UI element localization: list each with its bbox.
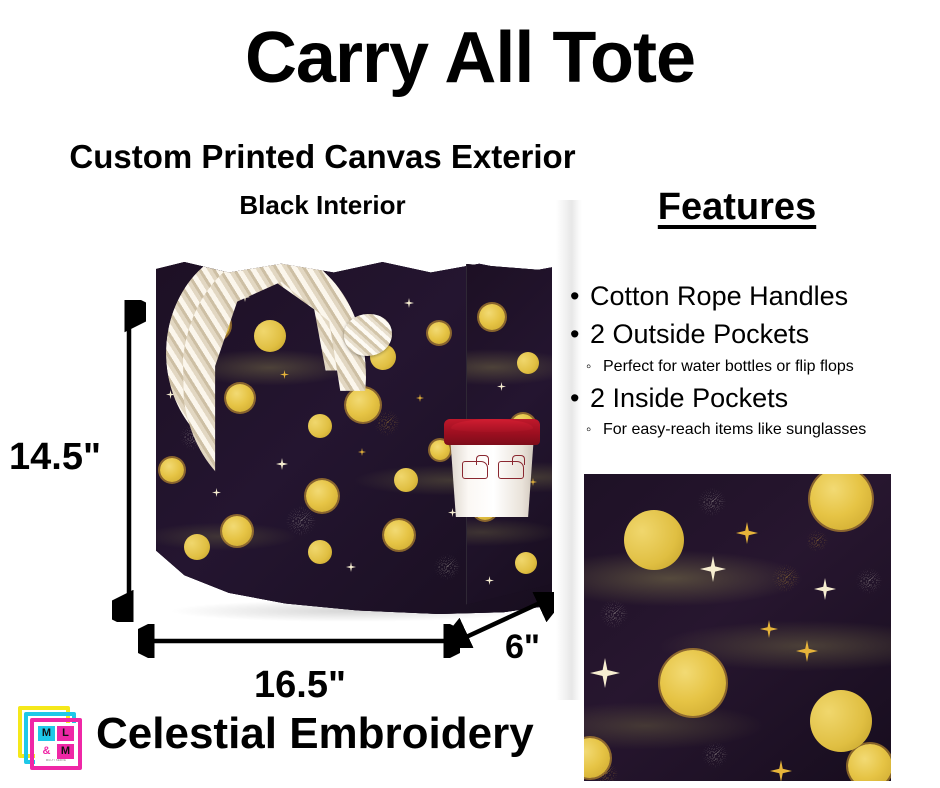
width-dimension-arrow <box>138 624 460 658</box>
features-list: • Cotton Rope Handles • 2 Outside Pocket… <box>570 278 940 443</box>
brand-logo: M L & M MULTI SERVE <box>16 704 90 776</box>
brand-name: Celestial Embroidery <box>96 712 534 756</box>
cup-body <box>450 435 534 517</box>
logo-tagline: MULTI SERVE <box>38 759 74 762</box>
cup-lid <box>444 419 540 445</box>
panel-divider-shadow <box>556 200 582 700</box>
feature-subitem: ◦ For easy-reach items like sunglasses <box>586 418 940 441</box>
travel-cup-icon <box>444 413 540 517</box>
page-title: Carry All Tote <box>0 22 940 94</box>
dog-outline-icon <box>462 461 488 479</box>
feature-label: Cotton Rope Handles <box>590 278 848 315</box>
width-label: 16.5" <box>150 664 450 707</box>
logo-tile-amp: & <box>38 744 55 759</box>
subtitle-exterior: Custom Printed Canvas Exterior <box>0 138 645 176</box>
tote-bag-image <box>148 246 552 618</box>
feature-label: 2 Inside Pockets <box>590 380 788 417</box>
feature-item: • Cotton Rope Handles <box>570 278 940 315</box>
depth-label: 6" <box>505 628 569 667</box>
hollow-bullet-icon: ◦ <box>586 422 603 437</box>
feature-item: • 2 Outside Pockets <box>570 316 940 353</box>
logo-tile-m2: M <box>57 744 74 759</box>
feature-item: • 2 Inside Pockets <box>570 380 940 417</box>
feature-sublabel: Perfect for water bottles or flip flops <box>603 355 854 378</box>
bullet-icon: • <box>570 385 590 412</box>
dog-outline-icon <box>498 461 524 479</box>
fabric-swatch-image <box>584 474 891 781</box>
cup-lid-top <box>451 419 533 432</box>
subtitle-interior: Black Interior <box>0 190 645 221</box>
feature-subitem: ◦ Perfect for water bottles or flip flop… <box>586 355 940 378</box>
logo-tile-l: L <box>57 726 74 741</box>
logo-inner-panel: M L & M MULTI SERVE <box>35 723 77 765</box>
features-heading: Features <box>584 186 890 229</box>
feature-label: 2 Outside Pockets <box>590 316 809 353</box>
logo-tile-m1: M <box>38 726 55 741</box>
bullet-icon: • <box>570 321 590 348</box>
bullet-icon: • <box>570 283 590 310</box>
height-dimension-arrow <box>112 300 146 622</box>
feature-sublabel: For easy-reach items like sunglasses <box>603 418 866 441</box>
hollow-bullet-icon: ◦ <box>586 359 603 374</box>
celestial-pattern-swatch <box>584 474 891 781</box>
height-label: 14.5" <box>0 436 110 479</box>
